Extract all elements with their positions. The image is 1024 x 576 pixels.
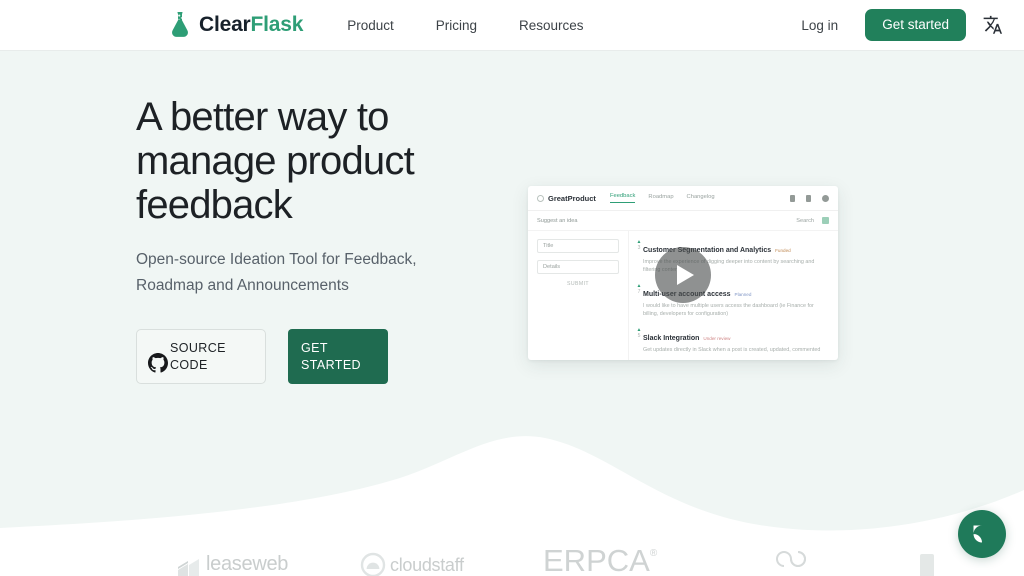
- page-title: A better way to manage product feedback: [136, 95, 496, 227]
- logo-leaseweb-label: leaseweb: [206, 553, 288, 576]
- demo-account-icon[interactable]: [822, 195, 829, 202]
- infinity-icon: [772, 547, 812, 569]
- demo-product-name: GreatProduct: [548, 194, 596, 203]
- demo-item-title: Slack Integration: [643, 335, 699, 342]
- logo-cloudstaff: cloudstaff: [360, 550, 464, 576]
- demo-topbar: GreatProduct Feedback Roadmap Changelog: [528, 186, 838, 211]
- main-nav: Product Pricing Resources: [347, 18, 625, 33]
- leaseweb-icon: [176, 552, 202, 576]
- translate-icon: [982, 14, 1004, 36]
- language-switcher-button[interactable]: [980, 12, 1006, 38]
- demo-feedback-list: ▲ 3 Customer Segmentation and AnalyticsF…: [629, 231, 838, 360]
- demo-title-input[interactable]: Title: [537, 239, 619, 253]
- source-code-button[interactable]: SOURCE CODE: [136, 329, 266, 384]
- play-icon: [677, 265, 694, 285]
- demo-item-badge: Under review: [703, 336, 730, 341]
- demo-search-label[interactable]: Search: [796, 218, 814, 224]
- login-link[interactable]: Log in: [801, 18, 838, 33]
- brand-logo[interactable]: ClearFlask: [168, 11, 303, 39]
- play-video-button[interactable]: [655, 247, 711, 303]
- header-actions: Log in Get started: [801, 9, 1006, 41]
- logo-erpca-label: ERPCA: [543, 546, 650, 576]
- demo-logo-icon: [537, 195, 544, 202]
- nav-item-resources[interactable]: Resources: [519, 18, 584, 33]
- hero-cta-row: SOURCE CODE GET STARTED: [136, 329, 496, 384]
- demo-item-badge: Funded: [775, 248, 791, 253]
- site-header: ClearFlask Product Pricing Resources Log…: [0, 0, 1024, 51]
- demo-search-area: Search: [796, 217, 829, 224]
- demo-suggestion-form: Title Details SUBMIT: [528, 231, 629, 360]
- demo-list-item[interactable]: ▲ 5 Slack IntegrationUnder review Get up…: [635, 327, 828, 355]
- demo-top-icons: [779, 195, 829, 202]
- demo-vote-control[interactable]: ▲ 5: [635, 327, 643, 355]
- demo-tab-changelog[interactable]: Changelog: [687, 194, 715, 203]
- brand-text-clear: Clear: [199, 13, 251, 36]
- cloudstaff-icon: [360, 550, 386, 576]
- brand-text: ClearFlask: [199, 13, 303, 37]
- demo-vote-count: 7: [635, 289, 643, 295]
- nav-item-pricing[interactable]: Pricing: [436, 18, 477, 33]
- brand-text-flask: Flask: [251, 13, 304, 36]
- demo-details-input[interactable]: Details: [537, 260, 619, 274]
- demo-vote-count: 5: [635, 333, 643, 339]
- demo-subbar: Suggest an idea Search: [528, 211, 838, 231]
- demo-tab-feedback[interactable]: Feedback: [610, 193, 635, 203]
- demo-filter-icon[interactable]: [822, 217, 829, 224]
- demo-vote-control[interactable]: ▲ 7: [635, 283, 643, 318]
- logo-cloudstaff-label: cloudstaff: [390, 555, 464, 576]
- demo-item-badge: Planned: [735, 292, 752, 297]
- demo-inbox-icon[interactable]: [806, 195, 811, 202]
- github-icon: [148, 353, 168, 373]
- demo-item-title: Customer Segmentation and Analytics: [643, 247, 771, 254]
- logo-leaseweb: leaseweb: [176, 552, 288, 576]
- demo-vote-control[interactable]: ▲ 3: [635, 239, 643, 274]
- demo-submit-button[interactable]: SUBMIT: [537, 281, 619, 287]
- get-started-header-button[interactable]: Get started: [865, 9, 966, 41]
- demo-vote-count: 3: [635, 245, 643, 251]
- logo-partial-edge: [920, 554, 934, 576]
- demo-suggest-label[interactable]: Suggest an idea: [537, 218, 577, 224]
- chat-widget-button[interactable]: [958, 510, 1006, 558]
- logo-erpca: ERPCA ®: [543, 546, 657, 576]
- page-root: ClearFlask Product Pricing Resources Log…: [0, 0, 1024, 576]
- demo-item-body: Slack IntegrationUnder review Get update…: [643, 327, 828, 355]
- demo-item-description: I would like to have multiple users acce…: [643, 303, 828, 318]
- chat-bubble-icon: [972, 524, 992, 544]
- demo-tab-roadmap[interactable]: Roadmap: [648, 194, 673, 203]
- demo-notifications-icon[interactable]: [790, 195, 795, 202]
- logo-infinity-mark: [772, 547, 812, 574]
- get-started-hero-button[interactable]: GET STARTED: [288, 329, 388, 384]
- demo-item-description: Get updates directly in Slack when a pos…: [643, 347, 828, 355]
- flask-icon: [168, 11, 192, 39]
- hero-content: A better way to manage product feedback …: [136, 95, 496, 384]
- hero-subtitle: Open-source Ideation Tool for Feedback, …: [136, 247, 426, 298]
- logo-erpca-registered: ®: [650, 548, 657, 559]
- customer-logos-strip: leaseweb cloudstaff ERPCA ®: [0, 536, 1024, 576]
- nav-item-product[interactable]: Product: [347, 18, 394, 33]
- source-code-label: SOURCE CODE: [170, 340, 254, 374]
